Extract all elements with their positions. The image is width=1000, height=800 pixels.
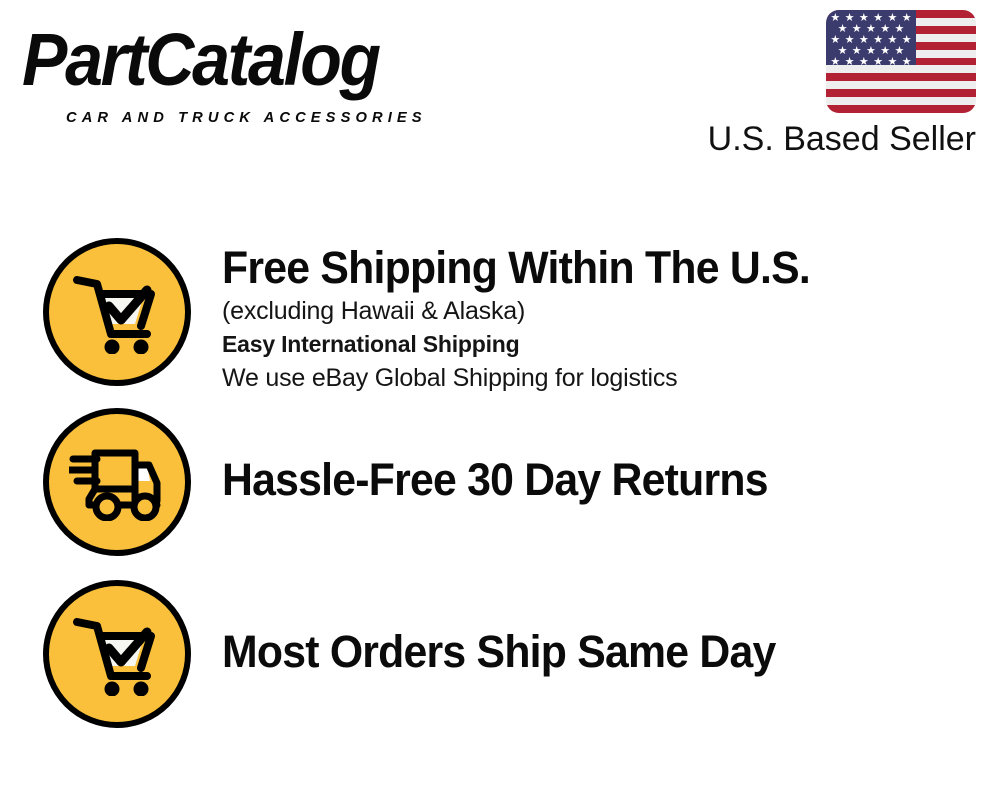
feature-heading: Hassle-Free 30 Day Returns <box>222 454 944 506</box>
flag-star-icon: ★ <box>859 57 869 68</box>
promo-banner: PartCatalog CAR AND TRUCK ACCESSORIES <box>0 0 1000 800</box>
feature-text-block: Free Shipping Within The U.S. (excluding… <box>222 242 982 395</box>
flag-canton: ★ ★ ★ ★ ★ ★ ★ ★ ★ ★ ★ ★ <box>826 10 916 65</box>
feature-heading: Most Orders Ship Same Day <box>222 626 944 678</box>
flag-star-row: ★ ★ ★ ★ ★ ★ <box>826 57 916 68</box>
us-flag-icon: ★ ★ ★ ★ ★ ★ ★ ★ ★ ★ ★ ★ <box>826 10 976 113</box>
us-based-seller-badge: ★ ★ ★ ★ ★ ★ ★ ★ ★ ★ ★ ★ <box>708 10 988 160</box>
flag-star-icon: ★ <box>873 57 883 68</box>
flag-star-icon: ★ <box>830 57 840 68</box>
delivery-truck-icon <box>43 408 191 556</box>
flag-star-icon: ★ <box>845 57 855 68</box>
feature-subnote: (excluding Hawaii & Alaska) <box>222 294 982 328</box>
feature-heading: Free Shipping Within The U.S. <box>222 242 944 294</box>
feature-subdetail: We use eBay Global Shipping for logistic… <box>222 361 982 395</box>
banner-header: PartCatalog CAR AND TRUCK ACCESSORIES <box>0 0 1000 175</box>
shopping-cart-check-icon <box>43 238 191 386</box>
feature-row: Most Orders Ship Same Day <box>0 578 1000 750</box>
feature-subheading: Easy International Shipping <box>222 328 982 361</box>
logo-wordmark: PartCatalog <box>22 22 379 98</box>
us-based-seller-label: U.S. Based Seller <box>708 118 976 160</box>
flag-star-icon: ★ <box>902 57 912 68</box>
partcatalog-logo: PartCatalog CAR AND TRUCK ACCESSORIES <box>22 22 492 122</box>
feature-text-block: Hassle-Free 30 Day Returns <box>222 454 982 506</box>
feature-row: Hassle-Free 30 Day Returns <box>0 406 1000 578</box>
logo-tagline: CAR AND TRUCK ACCESSORIES <box>66 110 427 126</box>
feature-row: Free Shipping Within The U.S. (excluding… <box>0 236 1000 408</box>
feature-text-block: Most Orders Ship Same Day <box>222 626 982 678</box>
shopping-cart-check-icon <box>43 580 191 728</box>
flag-star-icon: ★ <box>887 57 897 68</box>
